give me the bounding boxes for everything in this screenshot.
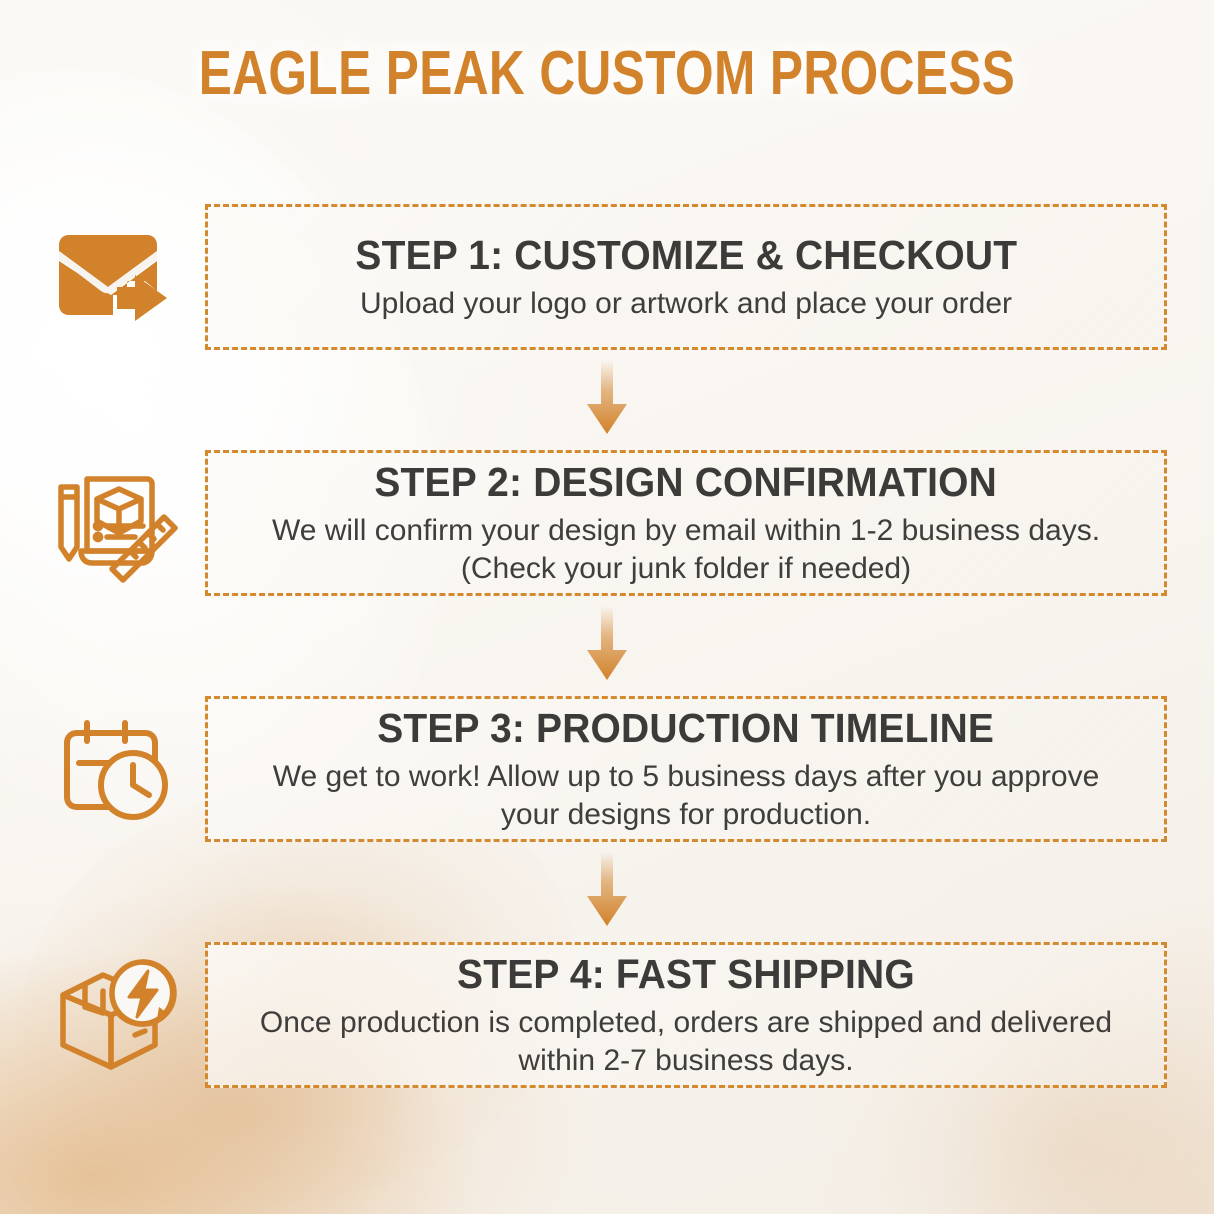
- design-document-icon: [40, 460, 190, 586]
- arrow-step2-to-step3: [0, 604, 1214, 688]
- step-title: STEP 4: FAST SHIPPING: [457, 950, 915, 998]
- step-title: STEP 2: DESIGN CONFIRMATION: [375, 458, 998, 506]
- step-title: STEP 1: CUSTOMIZE & CHECKOUT: [355, 231, 1017, 279]
- fast-shipping-box-icon: [40, 952, 190, 1078]
- step-card: STEP 1: CUSTOMIZE & CHECKOUT Upload your…: [205, 204, 1167, 350]
- step-card: STEP 4: FAST SHIPPING Once production is…: [205, 942, 1167, 1088]
- step-description: We will confirm your design by email wit…: [246, 512, 1126, 588]
- step-card: STEP 2: DESIGN CONFIRMATION We will conf…: [205, 450, 1167, 596]
- steps-list: STEP 1: CUSTOMIZE & CHECKOUT Upload your…: [0, 196, 1214, 1096]
- step-card: STEP 3: PRODUCTION TIMELINE We get to wo…: [205, 696, 1167, 842]
- step-description: Upload your logo or artwork and place yo…: [360, 285, 1012, 323]
- step-row: STEP 3: PRODUCTION TIMELINE We get to wo…: [0, 688, 1214, 850]
- step-description: We get to work! Allow up to 5 business d…: [246, 758, 1126, 834]
- envelope-send-icon: [40, 214, 190, 340]
- step-row: STEP 1: CUSTOMIZE & CHECKOUT Upload your…: [0, 196, 1214, 358]
- step-title: STEP 3: PRODUCTION TIMELINE: [378, 704, 995, 752]
- arrow-step1-to-step2: [0, 358, 1214, 442]
- step-row: STEP 4: FAST SHIPPING Once production is…: [0, 934, 1214, 1096]
- step-row: STEP 2: DESIGN CONFIRMATION We will conf…: [0, 442, 1214, 604]
- calendar-clock-icon: [40, 706, 190, 832]
- step-description: Once production is completed, orders are…: [246, 1004, 1126, 1080]
- process-infographic: EAGLE PEAK CUSTOM PROCESS STEP 1: CUSTOM…: [0, 0, 1214, 1214]
- page-title: EAGLE PEAK CUSTOM PROCESS: [121, 38, 1092, 110]
- arrow-step3-to-step4: [0, 850, 1214, 934]
